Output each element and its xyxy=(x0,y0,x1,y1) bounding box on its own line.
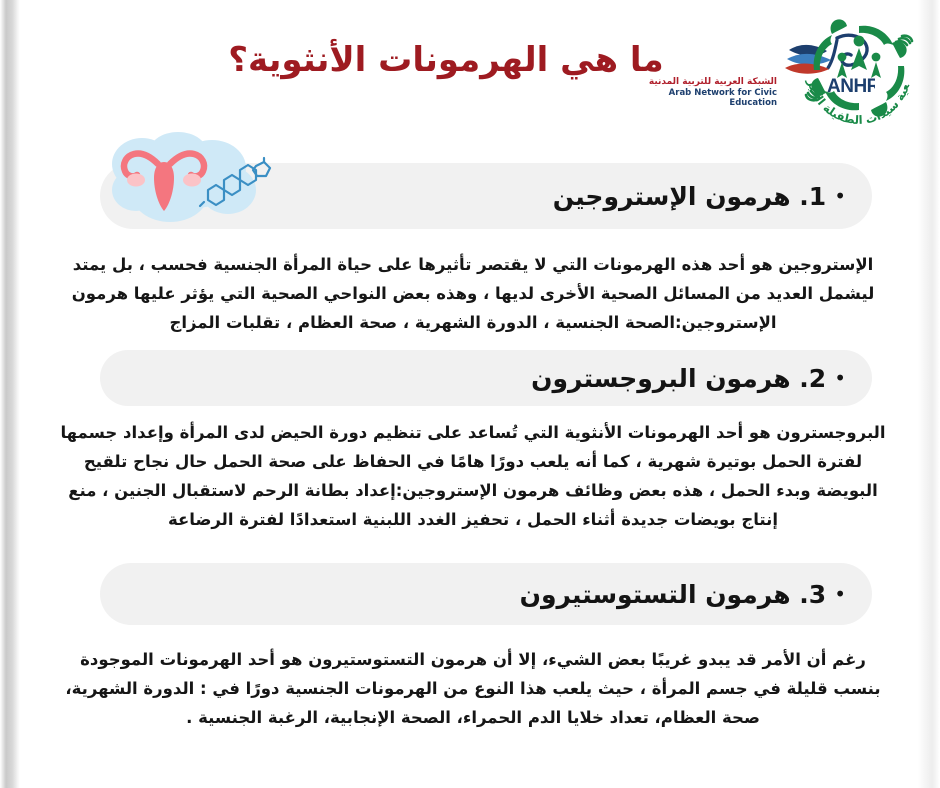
section-heading-row-3: • 3. هرمون التستوستيرون xyxy=(520,582,846,607)
section-heading-label-1: 1. هرمون الإستروجين xyxy=(553,184,826,209)
infographic-page: ANHRE الشبكة العربية للتربية المدنية Ara… xyxy=(0,0,940,788)
bullet-icon: • xyxy=(834,186,846,206)
section-body-testosterone: رغم أن الأمر قد يبدو غريبًا بعض الشيء، إ… xyxy=(58,645,888,732)
header: ANHRE الشبكة العربية للتربية المدنية Ara… xyxy=(0,0,940,130)
section-heading-row-2: • 2. هرمون البروجسترون xyxy=(531,366,846,391)
uterus-and-steroid-molecule-icon xyxy=(100,128,290,232)
section-heading-row-1: • 1. هرمون الإستروجين xyxy=(553,184,846,209)
page-edge-shadow-right xyxy=(918,0,940,788)
section-heading-label-3: 3. هرمون التستوستيرون xyxy=(520,582,827,607)
page-title: ما هي الهرمونات الأنثوية؟ xyxy=(0,40,940,80)
bullet-icon: • xyxy=(834,584,846,604)
charity-logo: جمعية سيدات الطفيلة الخيرية xyxy=(800,12,918,124)
bullet-icon: • xyxy=(834,368,846,388)
section-body-progesterone: البروجسترون هو أحد الهرمونات الأنثوية ال… xyxy=(58,418,888,534)
section-heading-label-2: 2. هرمون البروجسترون xyxy=(531,366,826,391)
section-heading-testosterone[interactable]: • 3. هرمون التستوستيرون xyxy=(100,563,872,625)
section-body-estrogen: الإستروجين هو أحد هذه الهرمونات التي لا … xyxy=(58,250,888,337)
section-heading-progesterone[interactable]: • 2. هرمون البروجسترون xyxy=(100,350,872,406)
page-edge-shadow-left xyxy=(0,0,20,788)
